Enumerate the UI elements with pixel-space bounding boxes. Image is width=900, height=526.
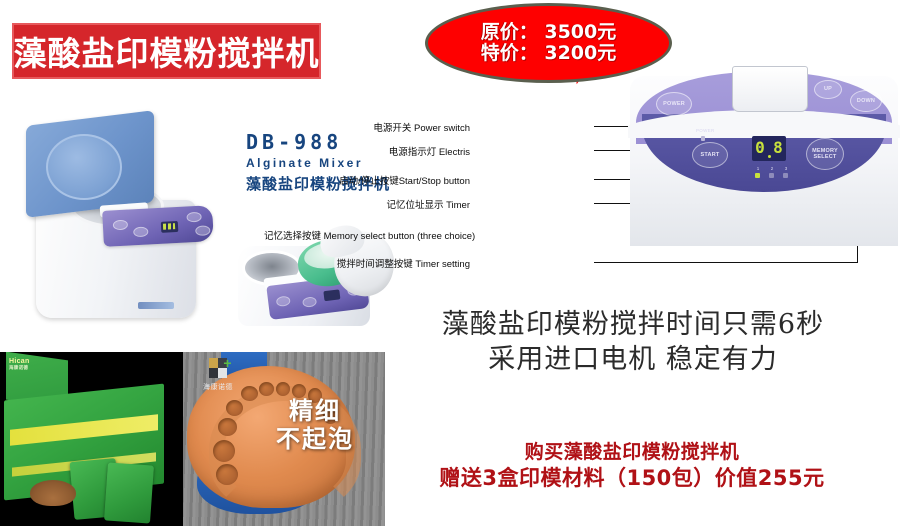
callout-label-timer-display: 记忆位址显示 Timer [330,197,470,211]
tooth-impression [218,418,237,436]
feature-tagline: 藻酸盐印模粉搅拌时间只需6秒 采用进口电机 稳定有力 [398,308,868,377]
callout-label-memory-select: 记忆选择按键 Memory select button (three choic… [264,228,470,242]
timer-led-display: 0 8 [752,136,786,161]
led-digit-tens: 0 [755,140,766,158]
callout-label-start-stop: 启动/停止按键Start/Stop button [300,173,470,187]
callout-label-power-switch: 电源开关 Power switch [330,120,470,134]
impression-material-box-photo: Hican 海康诺德 [0,352,183,526]
quality-claim-line-2: 不起泡 [255,426,375,454]
tooth-impression [216,464,238,485]
memory-indicator-label-2: 2 [768,166,776,171]
mixer-panel-led-display [161,221,179,233]
led-decimal-point [768,155,771,158]
tooth-impression [276,382,290,396]
demo-panel-led-display [323,289,340,301]
callout-label-power-indicator: 电源指示灯 Electris [330,144,470,158]
down-button[interactable]: DOWN [850,90,882,112]
dental-impression-photo: 精细 不起泡 + 海康诺德 [183,352,385,526]
shield-icon: + [209,358,228,380]
quality-claim-line-1: 精细 [255,398,375,426]
callout-label-timer-setting: 搅拌时间调整按键 Timer setting [292,256,470,270]
shield-quadrant [209,358,218,368]
tagline-line-1: 藻酸盐印模粉搅拌时间只需6秒 [398,308,868,343]
power-indicator-label: POWER [696,128,715,133]
memory-indicator-led-3 [783,173,788,178]
sachet-label-right [110,481,147,495]
material-sachet-right [104,462,154,523]
box-brand-logo: Hican 海康诺德 [9,358,30,371]
up-button[interactable]: UP [814,80,842,99]
watermark-brand-name: 海康诺德 [195,382,241,392]
model-english-name: Alginate Mixer [246,156,390,170]
box-brand-sub: 海康诺德 [9,365,30,371]
power-button[interactable]: POWER [656,92,692,116]
product-title-text: 藻酸盐印模粉搅拌机 [14,27,320,75]
memory-select-button[interactable]: MEMORY SELECT [806,138,844,170]
memory-indicator-led-1 [755,173,760,178]
mixer-lid-ring [46,134,122,200]
memory-indicator-label-1: 1 [754,166,762,171]
mixer-panel-button-start [133,227,149,238]
quality-claim-text: 精细 不起泡 [255,398,375,454]
tagline-line-2: 采用进口电机 稳定有力 [398,343,868,378]
mixer-product-photo [8,112,240,334]
original-price-text: 原价： 3500元 [481,22,617,43]
alginate-powder-pile [30,480,76,506]
led-digit-ones: 8 [773,140,784,158]
mixer-panel-button-down [195,225,211,236]
promo-line-2: 赠送3盒印模材料（150包）价值255元 [372,465,892,492]
mixer-panel-button-power [113,220,129,231]
promo-line-1: 购买藻酸盐印模粉搅拌机 [372,440,892,465]
demo-panel-button-power [276,295,291,307]
promotion-text: 购买藻酸盐印模粉搅拌机 赠送3盒印模材料（150包）价值255元 [372,440,892,492]
control-panel-lid-latch [732,66,808,112]
tooth-impression [226,400,243,416]
mixer-control-panel [102,205,214,247]
watermark-badge: + 海康诺德 [195,358,241,392]
start-button[interactable]: START [692,142,728,168]
box-brand-name: Hican [9,358,30,365]
leader-line-timer-setting-h [594,262,858,263]
power-indicator-led [701,136,705,141]
mixer-brand-logo [138,302,174,309]
memory-indicator-led-2 [769,173,774,178]
product-title-banner: 藻酸盐印模粉搅拌机 [12,23,321,79]
memory-indicator-label-3: 3 [782,166,790,171]
tooth-impression [292,384,306,398]
shield-quadrant [209,368,218,378]
mixer-panel-button-up [186,212,202,223]
control-panel-photo: POWER UP DOWN START MEMORY SELECT POWER … [628,58,900,254]
demo-panel-button-start [302,296,317,308]
special-price-text: 特价： 3200元 [481,43,617,64]
tooth-impression [213,440,235,462]
plus-icon: + [223,358,231,368]
tooth-impression [259,382,274,396]
